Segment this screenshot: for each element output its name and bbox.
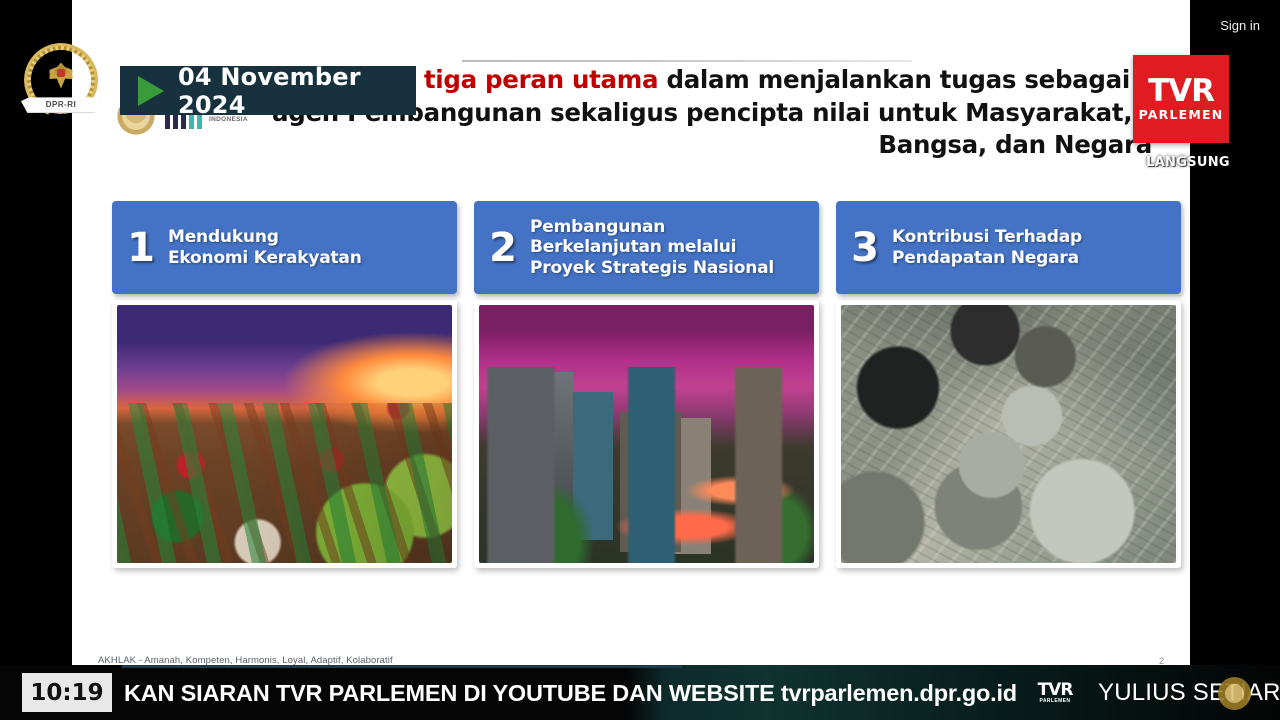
emblem-ribbon-label: DPR-RI bbox=[21, 96, 101, 113]
role-card-1-title: Mendukung Ekonomi Kerakyatan bbox=[168, 227, 362, 268]
headline-divider bbox=[462, 60, 912, 62]
ticker-logo-sub: PARLEMEN bbox=[1040, 699, 1071, 704]
play-triangle-icon bbox=[138, 76, 164, 106]
role-card-2-body bbox=[474, 300, 819, 568]
role-card-3-header: 3 Kontribusi Terhadap Pendapatan Negara bbox=[836, 201, 1181, 294]
city-skyline-photo bbox=[479, 305, 814, 563]
headline-highlight: tiga peran utama bbox=[424, 65, 658, 94]
tvr-logo-sub: PARLEMEN bbox=[1139, 109, 1224, 122]
ticker-tvr-logo: TVR PARLEMEN bbox=[1028, 679, 1082, 707]
headline-line3: Bangsa, dan Negara bbox=[272, 129, 1162, 162]
live-badge: LANGSUNG bbox=[1140, 155, 1236, 170]
role-card-2-header: 2 Pembangunan Berkelanjutan melalui Proy… bbox=[474, 201, 819, 294]
lower-third-ticker: 10:19 KAN SIARAN TVR PARLEMEN DI YOUTUBE… bbox=[0, 665, 1280, 720]
broadcast-clock: 10:19 bbox=[22, 673, 112, 712]
broadcast-date-chip: 04 November 2024 bbox=[120, 66, 416, 115]
role-card-1-number: 1 bbox=[126, 228, 156, 268]
role-card-1: 1 Mendukung Ekonomi Kerakyatan bbox=[112, 201, 457, 568]
role-card-2: 2 Pembangunan Berkelanjutan melalui Proy… bbox=[474, 201, 819, 568]
role-card-3: 3 Kontribusi Terhadap Pendapatan Negara bbox=[836, 201, 1181, 568]
role-card-1-body bbox=[112, 300, 457, 568]
role-card-2-number: 2 bbox=[488, 228, 518, 268]
role-card-3-body bbox=[836, 300, 1181, 568]
role-card-2-title: Pembangunan Berkelanjutan melalui Proyek… bbox=[530, 217, 774, 278]
coins-money-photo bbox=[841, 305, 1176, 563]
dpr-ri-emblem: DPR-RI bbox=[24, 43, 98, 117]
role-card-3-title: Kontribusi Terhadap Pendapatan Negara bbox=[892, 227, 1082, 268]
role-card-3-number: 3 bbox=[850, 228, 880, 268]
video-player-stage: Sign in REPUBLIK INDONESIA N memiliki ti… bbox=[0, 0, 1280, 720]
headline-part2: dalam menjalankan tugas sebagai bbox=[658, 65, 1130, 94]
broadcast-date-label: 04 November 2024 bbox=[178, 63, 416, 119]
ticker-logo-main: TVR bbox=[1038, 682, 1073, 699]
role-card-1-header: 1 Mendukung Ekonomi Kerakyatan bbox=[112, 201, 457, 294]
sign-in-button[interactable]: Sign in bbox=[1210, 14, 1270, 37]
three-role-cards: 1 Mendukung Ekonomi Kerakyatan 2 Pembang… bbox=[112, 201, 1182, 568]
anchor-name-label: YULIUS SETIAR bbox=[1098, 675, 1280, 711]
floating-market-photo bbox=[117, 305, 452, 563]
ticker-accent-line bbox=[122, 665, 682, 668]
anchor-seal-icon bbox=[1218, 677, 1251, 710]
tvr-parlemen-logo: TVR PARLEMEN bbox=[1133, 55, 1229, 143]
tvr-logo-main: TVR bbox=[1148, 76, 1214, 107]
ticker-message: KAN SIARAN TVR PARLEMEN DI YOUTUBE DAN W… bbox=[124, 674, 1017, 712]
